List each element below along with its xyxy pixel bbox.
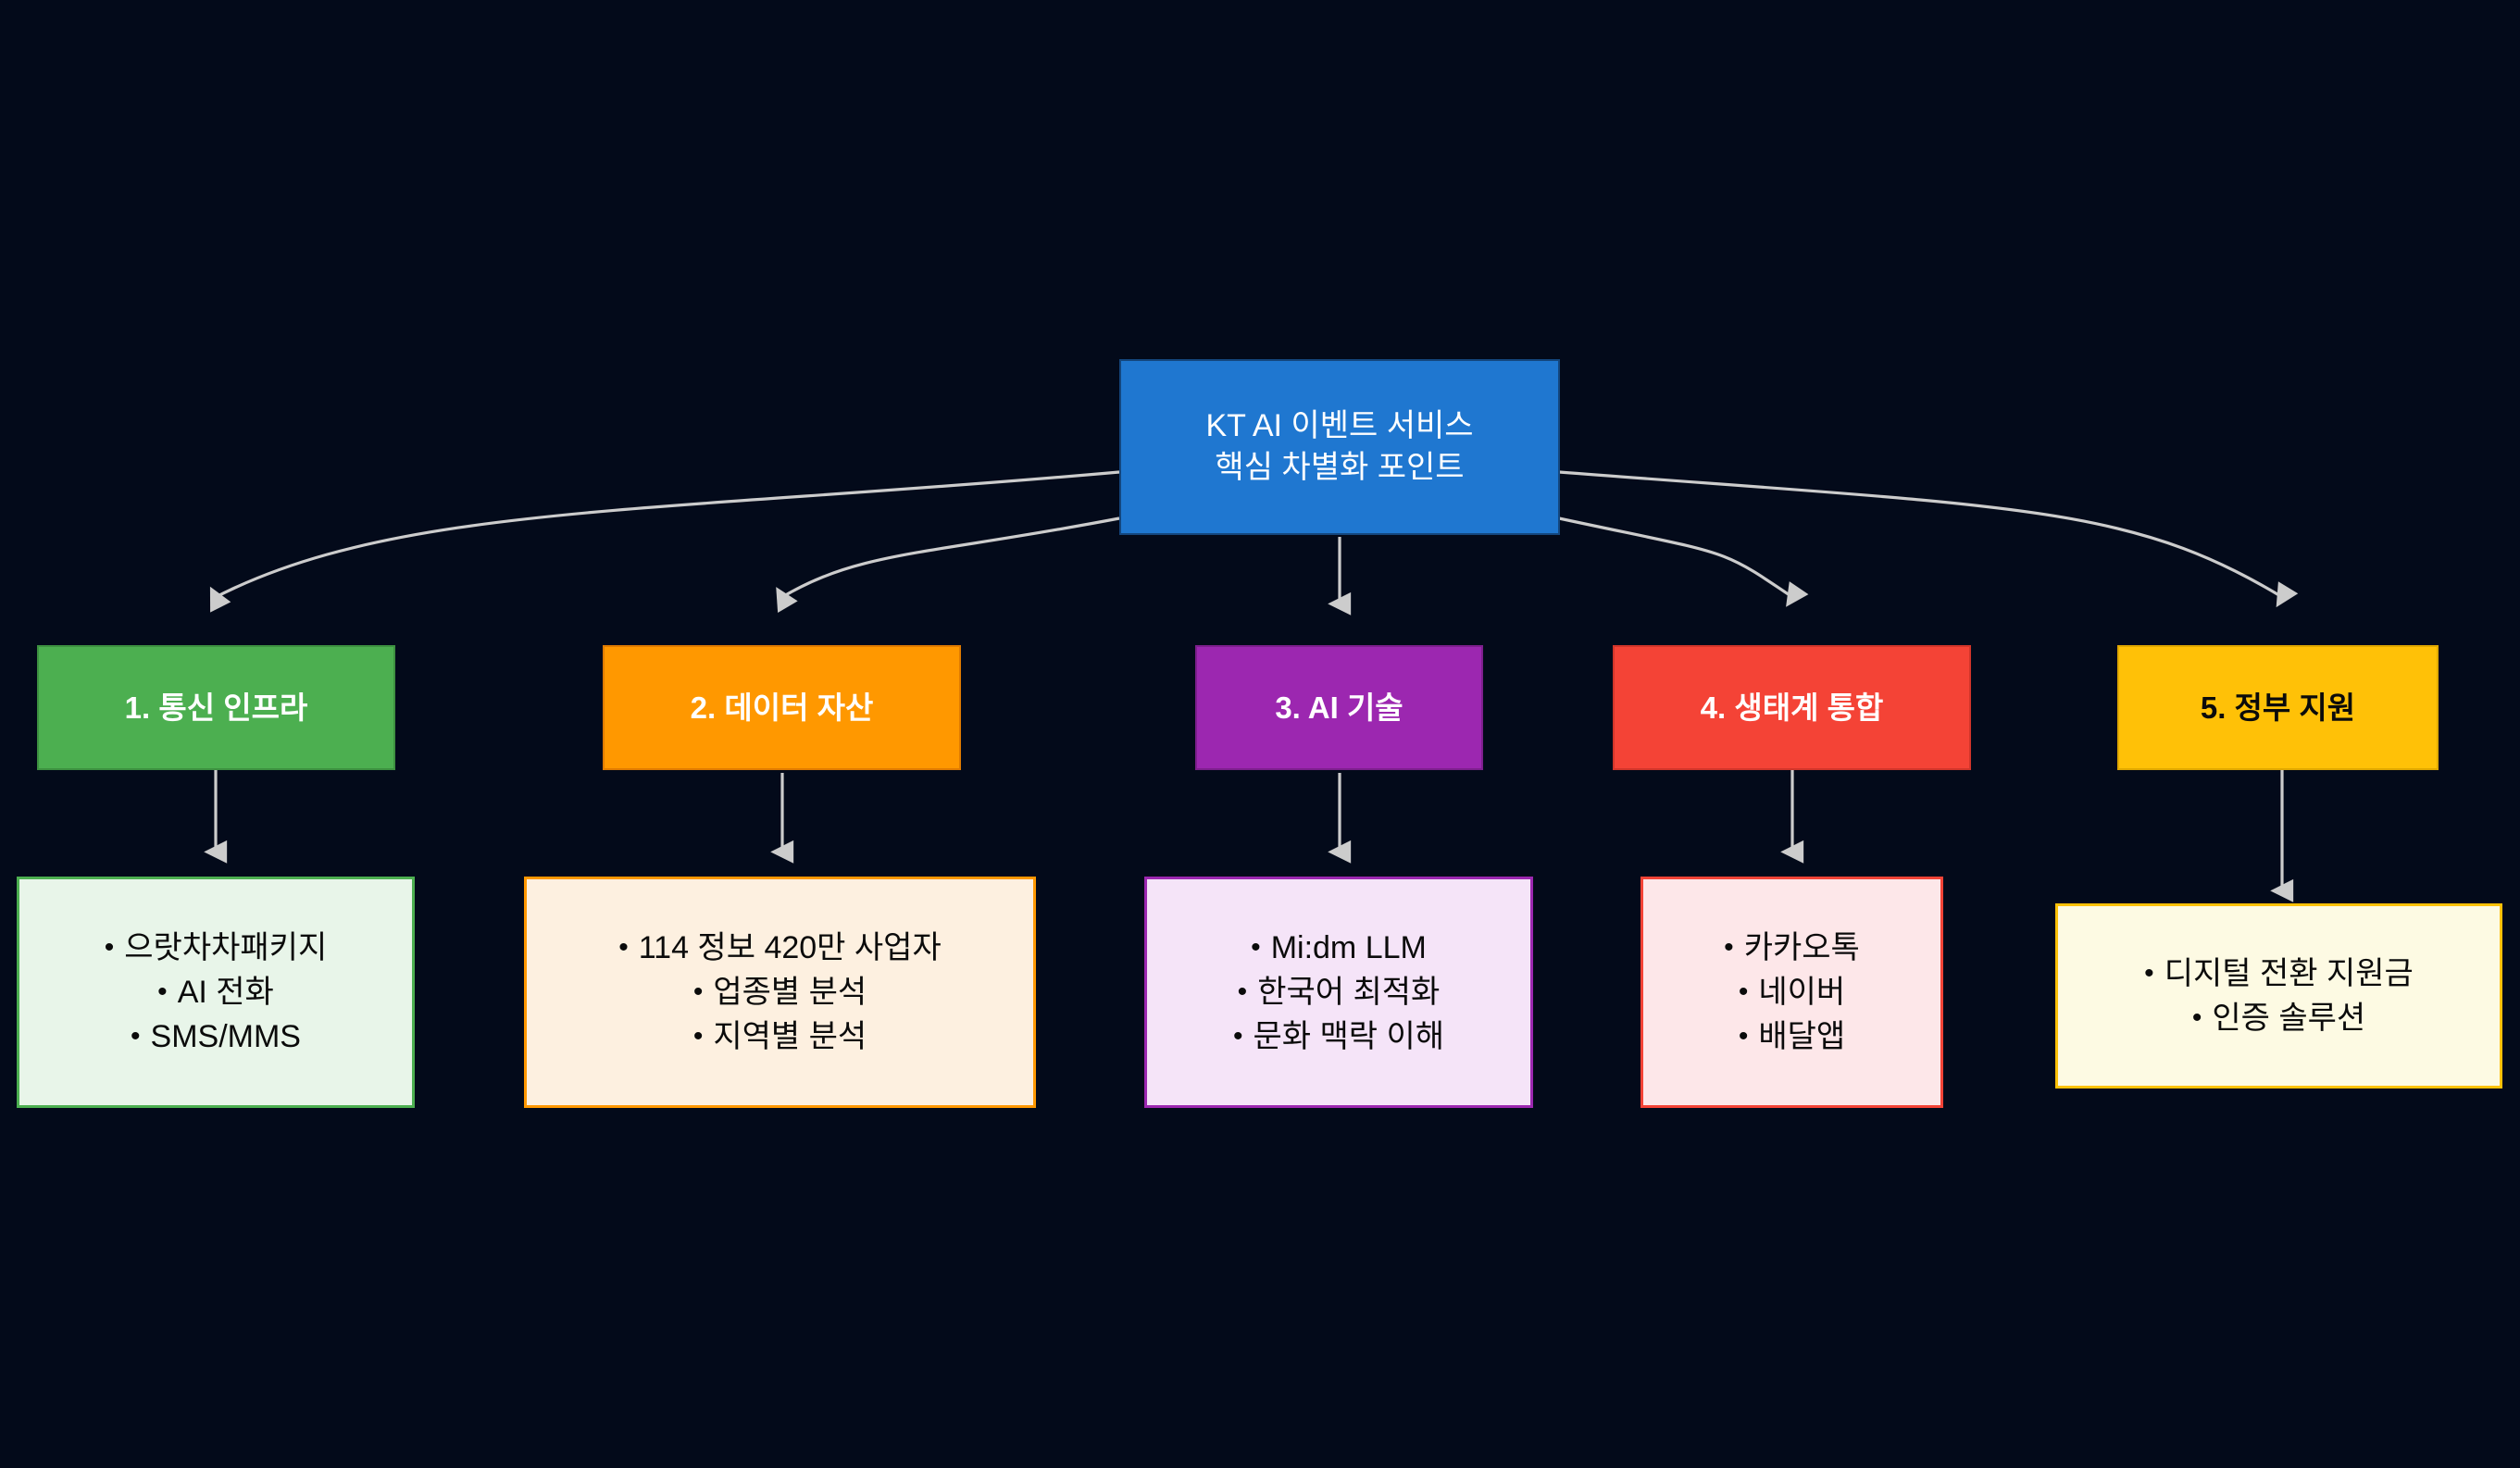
bullet-icon: • [2144, 954, 2154, 994]
category-label: 5. 정부 지원 [2201, 688, 2355, 728]
edge-root-to-telecom-infra [216, 472, 1119, 597]
detail-item: •문화 맥락 이해 [1233, 1014, 1444, 1059]
bullet-icon: • [131, 1017, 141, 1057]
category-label: 4. 생태계 통합 [1701, 688, 1884, 728]
bullet-icon: • [2192, 999, 2202, 1039]
bullet-icon: • [1739, 1017, 1749, 1057]
detail-item: •배달앱 [1739, 1014, 1845, 1059]
detail-item: •인증 솔루션 [2192, 996, 2365, 1040]
detail-node-data-assets[interactable]: •114 정보 420만 사업자 •업종별 분석 •지역별 분석 [524, 877, 1036, 1108]
edge-root-to-ecosystem-integration [1559, 518, 1792, 597]
bullet-icon: • [1724, 928, 1734, 968]
detail-node-ecosystem-integration[interactable]: •카카오톡 •네이버 •배달앱 [1640, 877, 1943, 1108]
bullet-icon: • [157, 973, 168, 1013]
category-node-data-assets[interactable]: 2. 데이터 자산 [603, 645, 961, 770]
category-label: 3. AI 기술 [1275, 688, 1403, 728]
bullet-icon: • [618, 928, 629, 968]
bullet-icon: • [693, 973, 704, 1013]
detail-item: •업종별 분석 [693, 970, 867, 1014]
detail-item: •으랏차차패키지 [105, 926, 327, 970]
root-node-label: KT AI 이벤트 서비스 핵심 차별화 포인트 [1205, 405, 1473, 489]
edge-root-to-data-assets [782, 518, 1119, 597]
detail-item: •네이버 [1739, 970, 1845, 1014]
diagram-canvas: KT AI 이벤트 서비스 핵심 차별화 포인트 1. 통신 인프라 •으랏차차… [0, 0, 2520, 1468]
bullet-icon: • [1739, 973, 1749, 1013]
detail-item: •Mi:dm LLM [1251, 926, 1427, 970]
bullet-icon: • [693, 1017, 704, 1057]
detail-item: •지역별 분석 [693, 1014, 867, 1059]
bullet-icon: • [1238, 973, 1248, 1013]
category-node-ai-technology[interactable]: 3. AI 기술 [1195, 645, 1483, 770]
bullet-icon: • [1233, 1017, 1243, 1057]
detail-node-telecom-infra[interactable]: •으랏차차패키지 •AI 전화 •SMS/MMS [17, 877, 415, 1108]
detail-item: •카카오톡 [1724, 926, 1860, 970]
detail-item: •디지털 전환 지원금 [2144, 952, 2414, 996]
bullet-icon: • [105, 928, 115, 968]
detail-item: •SMS/MMS [131, 1014, 301, 1059]
category-node-ecosystem-integration[interactable]: 4. 생태계 통합 [1613, 645, 1971, 770]
category-label: 1. 통신 인프라 [125, 688, 308, 728]
detail-item: •114 정보 420만 사업자 [618, 926, 941, 970]
detail-item: •AI 전화 [157, 970, 274, 1014]
detail-node-government-support[interactable]: •디지털 전환 지원금 •인증 솔루션 [2055, 903, 2502, 1089]
detail-node-ai-technology[interactable]: •Mi:dm LLM •한국어 최적화 •문화 맥락 이해 [1144, 877, 1533, 1108]
category-label: 2. 데이터 자산 [691, 688, 874, 728]
detail-item: •한국어 최적화 [1238, 970, 1441, 1014]
bullet-icon: • [1251, 928, 1261, 968]
category-node-government-support[interactable]: 5. 정부 지원 [2117, 645, 2439, 770]
category-node-telecom-infra[interactable]: 1. 통신 인프라 [37, 645, 395, 770]
edge-root-to-government-support [1559, 472, 2282, 597]
root-node[interactable]: KT AI 이벤트 서비스 핵심 차별화 포인트 [1119, 359, 1560, 535]
